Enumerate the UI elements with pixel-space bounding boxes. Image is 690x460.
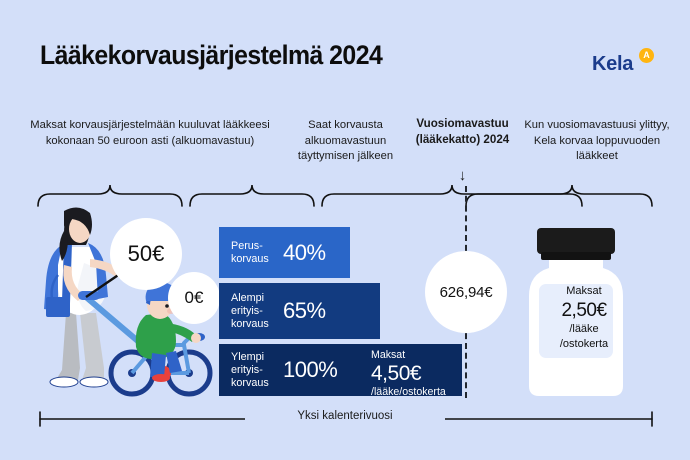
page-title: Lääkekorvausjärjestelmä 2024 <box>40 40 382 71</box>
bar-alempi-erityiskorvaus-label: Alempi erityis- korvaus <box>219 292 281 331</box>
bar-ylempi-payment-note: Maksat 4,50€ /lääke/ostokerta <box>371 349 446 399</box>
pill-bottle-label: Maksat 2,50€ /lääke /ostokerta <box>543 284 625 352</box>
caption-section-2: Saat korvausta alkuomavastuun täyttymise… <box>283 118 408 165</box>
annual-cap-amount: 626,94€ <box>425 251 507 333</box>
bar-peruskorvaus: Perus- korvaus 40% <box>219 227 350 278</box>
bubble-child-amount: 0€ <box>168 272 220 324</box>
caption-section-4: Kun vuosiomavastuusi ylittyy, Kela korva… <box>523 118 671 165</box>
caption-section-3: Vuosiomavastuu (lääkekatto) 2024 <box>405 116 520 147</box>
bar-alempi-erityiskorvaus-percent: 65% <box>283 298 326 324</box>
caption-section-1: Maksat korvausjärjestelmään kuuluvat lää… <box>30 118 270 149</box>
infographic-root: Lääkekorvausjärjestelmä 2024 Kela A Maks… <box>0 0 690 460</box>
bar-peruskorvaus-percent: 40% <box>283 240 326 266</box>
bar-ylempi-erityiskorvaus-label: Ylempi erityis- korvaus <box>219 351 281 390</box>
logo-text: Kela <box>592 53 633 76</box>
bar-ylempi-erityiskorvaus-percent: 100% <box>283 357 337 383</box>
kela-logo: Kela A <box>592 48 662 80</box>
bar-ylempi-erityiskorvaus: Ylempi erityis- korvaus 100% Maksat 4,50… <box>219 344 462 396</box>
calendar-year-label: Yksi kalenterivuosi <box>245 410 445 422</box>
bar-alempi-erityiskorvaus: Alempi erityis- korvaus 65% <box>219 283 380 339</box>
bar-peruskorvaus-label: Perus- korvaus <box>219 240 281 266</box>
down-arrow-icon: ↓ <box>405 168 520 183</box>
logo-badge-icon: A <box>639 48 654 63</box>
bubble-adult-amount: 50€ <box>110 218 182 290</box>
